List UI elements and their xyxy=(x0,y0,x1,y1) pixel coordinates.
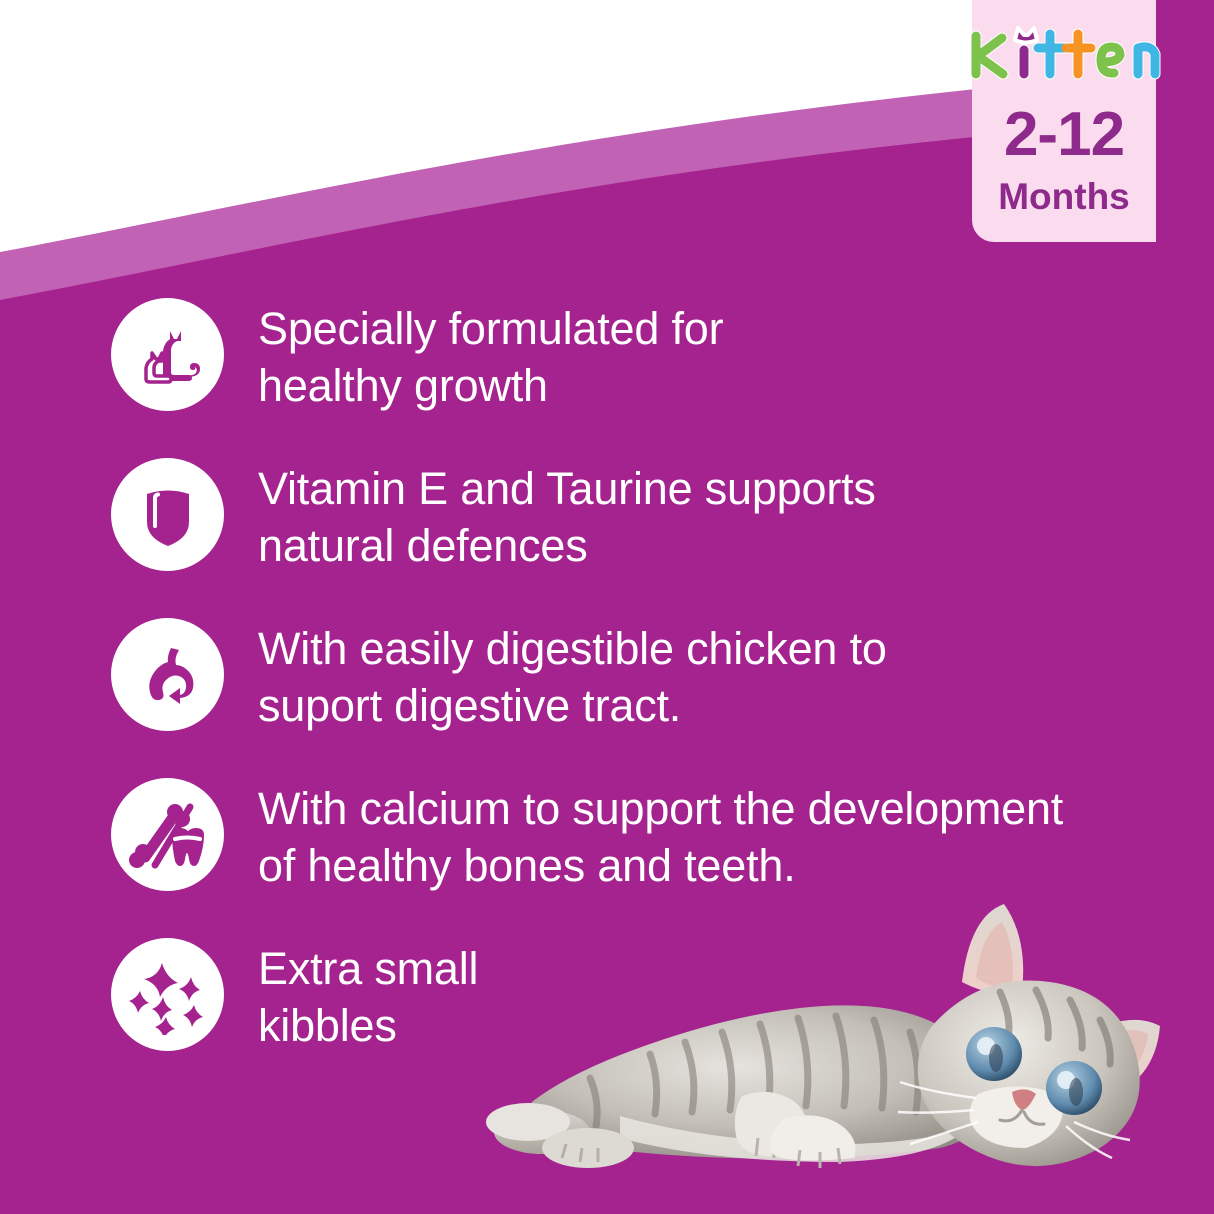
benefit-icon-badge xyxy=(111,458,224,571)
cat-ear-dot-icon xyxy=(1015,28,1037,43)
badge-age-range: 2-12 xyxy=(972,104,1156,166)
shield-icon xyxy=(131,478,205,552)
kibbles-icon xyxy=(128,955,208,1035)
bone-and-tooth-icon xyxy=(128,795,208,875)
kibble-shape xyxy=(144,963,178,997)
benefit-item: Vitamin E and Taurine supports natural d… xyxy=(0,456,1214,616)
logo-letter-t2 xyxy=(1066,34,1091,74)
benefit-item: With calcium to support the development … xyxy=(0,776,1214,936)
benefit-icon-badge xyxy=(111,298,224,411)
product-feature-banner: 2-12 Months Specially formulated for hea… xyxy=(0,0,1214,1214)
benefit-item: With easily digestible chicken to suport… xyxy=(0,616,1214,776)
benefit-icon-badge xyxy=(111,938,224,1051)
kitten-logo xyxy=(958,22,1170,86)
kibble-shape xyxy=(183,1005,203,1027)
badge-right-purple xyxy=(1156,0,1214,250)
benefits-list: Specially formulated for healthy growth … xyxy=(0,296,1214,1096)
benefit-label: With calcium to support the development … xyxy=(258,776,1063,894)
benefit-label: With easily digestible chicken to suport… xyxy=(258,616,887,734)
logo-letter-k xyxy=(976,36,1003,74)
benefit-label: Vitamin E and Taurine supports natural d… xyxy=(258,456,876,574)
benefit-label: Specially formulated for healthy growth xyxy=(258,296,723,414)
kibble-shape xyxy=(179,977,200,1001)
age-badge: 2-12 Months xyxy=(972,0,1156,242)
kibble-shape xyxy=(129,991,149,1013)
benefit-icon-badge xyxy=(111,778,224,891)
logo-letter-e xyxy=(1101,47,1120,73)
benefit-icon-badge xyxy=(111,618,224,731)
benefit-item: Extra small kibbles xyxy=(0,936,1214,1096)
kibble-shape xyxy=(152,997,172,1021)
logo-letter-n xyxy=(1138,47,1155,74)
badge-age-unit: Months xyxy=(972,178,1156,215)
tooth-shape xyxy=(172,828,204,866)
benefit-item: Specially formulated for healthy growth xyxy=(0,296,1214,456)
kibble-shape xyxy=(155,1017,175,1035)
cat-and-kitten-icon xyxy=(130,317,206,393)
stomach-icon xyxy=(131,638,205,712)
logo-letter-t1 xyxy=(1038,34,1063,74)
benefit-label: Extra small kibbles xyxy=(258,936,478,1054)
